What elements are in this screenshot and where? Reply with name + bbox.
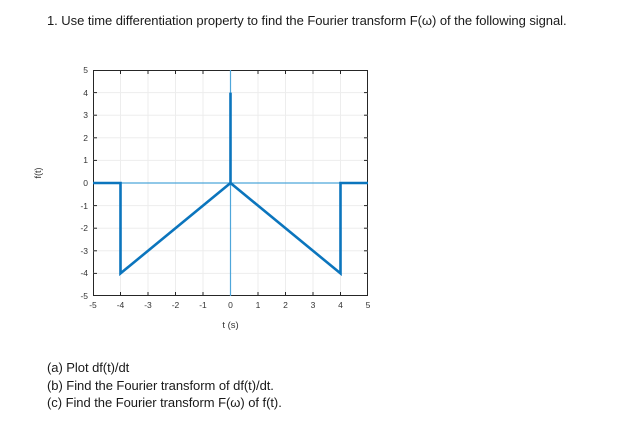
y-tick-label: 1 [62, 155, 88, 165]
y-tick-label: -2 [62, 223, 88, 233]
x-tick-label: -5 [81, 300, 105, 310]
subquestion-item-a: (a) Plot df(t)/dt [47, 359, 587, 377]
y-tick-label: -1 [62, 201, 88, 211]
y-tick-label: -4 [62, 268, 88, 278]
plot-canvas [93, 70, 368, 296]
x-tick-label: 3 [301, 300, 325, 310]
y-tick-label: 3 [62, 110, 88, 120]
signal-plot-figure: f(t) 543210-1-2-3-4-5 -5-4-3-2-1012345 t… [0, 58, 420, 348]
subquestion-item-b: (b) Find the Fourier transform of df(t)/… [47, 377, 587, 395]
x-axis-label: t (s) [93, 320, 368, 331]
subquestion-list: (a) Plot df(t)/dt (b) Find the Fourier t… [47, 359, 587, 412]
x-tick-label: 1 [246, 300, 270, 310]
question-text: 1. Use time differentiation property to … [47, 12, 607, 30]
x-tick-label: -2 [164, 300, 188, 310]
x-tick-label: -3 [136, 300, 160, 310]
x-tick-label: -1 [191, 300, 215, 310]
subquestion-item-c: (c) Find the Fourier transform F(ω) of f… [47, 394, 587, 412]
x-tick-label: 2 [274, 300, 298, 310]
y-tick-label: 4 [62, 88, 88, 98]
x-tick-label: 4 [329, 300, 353, 310]
y-axis-label: f(t) [33, 133, 43, 213]
x-tick-label: 5 [356, 300, 380, 310]
y-tick-label: 2 [62, 133, 88, 143]
y-tick-label: 5 [62, 65, 88, 75]
y-tick-label: 0 [62, 178, 88, 188]
x-tick-label: 0 [219, 300, 243, 310]
y-tick-label: -3 [62, 246, 88, 256]
x-tick-label: -4 [109, 300, 133, 310]
